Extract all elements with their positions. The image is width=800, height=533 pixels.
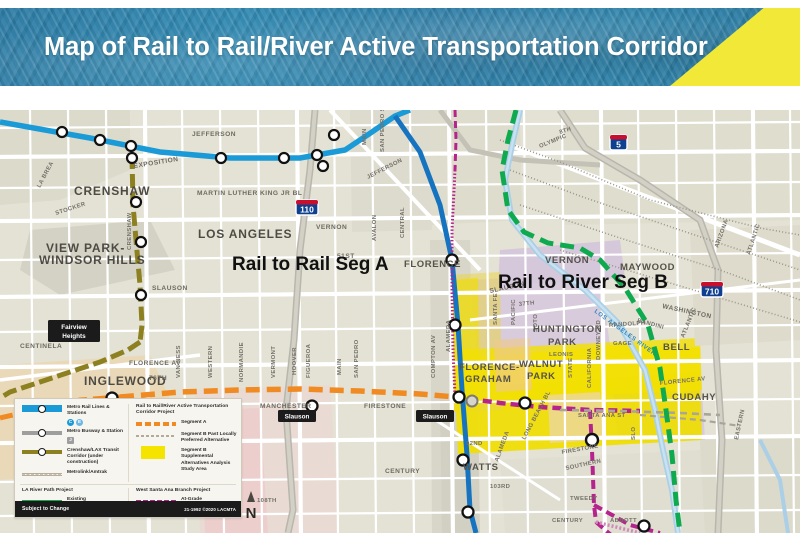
svg-text:AVALON: AVALON [372, 215, 378, 241]
svg-text:5: 5 [616, 140, 621, 150]
legend-left-column: Metro Rail Lines & Stations C E Metro Bu… [15, 404, 128, 482]
legend-row-segment-a: Segment A [136, 419, 237, 428]
svg-text:CUDAHY: CUDAHY [672, 392, 716, 403]
legend-row-busway: Metro Busway & Station J [22, 429, 124, 444]
svg-text:WESTERN: WESTERN [208, 346, 214, 378]
legend-label-busway: Metro Busway & Station [67, 429, 123, 436]
station-label-slauson-west: Slauson [278, 410, 316, 422]
legend-footer-bar: Subject to Change 21-1992 ©2020 LACMTA [15, 501, 242, 517]
svg-text:FIRESTONE: FIRESTONE [364, 403, 406, 410]
copyright-note: 21-1992 ©2020 LACMTA [184, 507, 236, 512]
svg-text:CENTINELA: CENTINELA [20, 343, 62, 350]
svg-text:CENTRAL: CENTRAL [400, 207, 406, 238]
crenshaw-lax-symbol-icon [22, 447, 62, 456]
svg-text:Slauson: Slauson [285, 414, 310, 421]
station-label-slauson-east: Slauson [416, 410, 454, 422]
svg-text:ABBOTT: ABBOTT [610, 518, 637, 524]
svg-text:CRENSHAW: CRENSHAW [127, 212, 133, 250]
metrolink-symbol-icon [22, 470, 62, 479]
svg-text:ALAMEDA: ALAMEDA [446, 319, 452, 352]
legend-label-metrolink: Metrolink/Amtrak [67, 470, 107, 477]
svg-text:HUNTINGTON: HUNTINGTON [533, 324, 602, 335]
svg-text:92ND: 92ND [466, 441, 483, 447]
svg-text:PACIFIC: PACIFIC [511, 299, 517, 325]
svg-text:VERNON: VERNON [316, 224, 347, 231]
svg-text:BELL: BELL [663, 342, 690, 353]
freeway-shield-710: 710 [701, 282, 723, 297]
svg-text:WALNUT: WALNUT [519, 359, 563, 370]
segment-b-map-label: Rail to River Seg B [498, 272, 668, 293]
legend-row-metro-rail: Metro Rail Lines & Stations C E [22, 404, 124, 426]
svg-text:FLORENCE: FLORENCE [404, 259, 461, 270]
metro-line-badges: C E [67, 419, 124, 426]
svg-text:VAN NESS: VAN NESS [176, 345, 182, 378]
svg-text:103RD: 103RD [490, 484, 510, 490]
legend-label-segment-b-study-area: Segment B Supplemental Alternatives Anal… [181, 447, 237, 473]
freeway-shield-5: 5 [610, 135, 627, 150]
segment-b-past-lpa-symbol-icon [136, 431, 176, 440]
svg-text:SAN PEDRO: SAN PEDRO [354, 339, 360, 378]
svg-text:PARK: PARK [527, 371, 556, 382]
screenshot-root: Map of Rail to Rail/River Active Transpo… [0, 0, 800, 533]
line-badge-c: C [67, 419, 74, 426]
svg-text:FLORENCE-: FLORENCE- [459, 362, 520, 373]
svg-text:COMPTON AV: COMPTON AV [431, 335, 437, 378]
svg-text:108TH: 108TH [257, 498, 277, 504]
svg-text:Fairview: Fairview [61, 324, 87, 331]
legend-row-segment-b-study-area: Segment B Supplemental Alternatives Anal… [136, 447, 237, 473]
svg-text:FLORENCE AV: FLORENCE AV [129, 360, 181, 367]
subject-to-change-note: Subject to Change [22, 506, 69, 512]
svg-text:PARK: PARK [548, 337, 577, 348]
page-header-banner: Map of Rail to Rail/River Active Transpo… [0, 8, 800, 86]
svg-text:LEONIS: LEONIS [549, 352, 573, 358]
svg-text:MAIN: MAIN [362, 128, 368, 145]
svg-text:GAGE: GAGE [613, 341, 632, 347]
legend-row-crenshaw-lax: Crenshaw/LAX Transit Corridor (under con… [22, 447, 124, 467]
svg-text:SANTA FE: SANTA FE [493, 293, 499, 325]
svg-text:N: N [246, 505, 257, 522]
freeway-shield-110: 110 [296, 200, 318, 215]
svg-text:GRAHAM: GRAHAM [465, 374, 511, 385]
segment-b-study-area-symbol-icon [136, 447, 176, 456]
svg-text:76TH: 76TH [149, 375, 167, 382]
svg-text:SLO: SLO [631, 427, 637, 440]
legend-row-metrolink: Metrolink/Amtrak [22, 470, 124, 479]
svg-text:VERNON: VERNON [545, 255, 589, 266]
page-title: Map of Rail to Rail/River Active Transpo… [44, 8, 708, 86]
svg-text:710: 710 [705, 287, 719, 297]
svg-text:CALIFORNIA: CALIFORNIA [587, 347, 593, 388]
svg-text:WATTS: WATTS [463, 462, 499, 473]
svg-text:Slauson: Slauson [423, 414, 448, 421]
svg-text:CENTURY: CENTURY [385, 468, 420, 475]
legend-label-segment-b-past-lpa: Segment B Past Locally Preferred Alterna… [181, 431, 237, 444]
legend-label-segment-a: Segment A [181, 419, 206, 426]
svg-text:HOOVER: HOOVER [292, 347, 298, 375]
segment-a-map-label: Rail to Rail Seg A [232, 254, 389, 275]
station-label-fairview-heights: Fairview Heights [48, 320, 100, 342]
svg-text:SLAUSON: SLAUSON [152, 285, 188, 292]
svg-text:DOWNEY RD: DOWNEY RD [596, 320, 602, 360]
svg-text:SANTA ANA ST: SANTA ANA ST [578, 413, 626, 419]
svg-text:NORMANDIE: NORMANDIE [239, 342, 245, 382]
svg-text:MAIN: MAIN [337, 358, 343, 375]
legend-right-column: Rail to Rail/River Active Transportation… [128, 404, 241, 482]
segment-a-symbol-icon [136, 419, 176, 428]
legend-heading-corridor-project: Rail to Rail/River Active Transportation… [136, 404, 237, 417]
svg-text:LOS ANGELES: LOS ANGELES [198, 227, 292, 241]
svg-text:WINDSOR HILLS: WINDSOR HILLS [39, 253, 145, 267]
metro-rail-symbol-icon [22, 404, 62, 413]
svg-text:MANCHESTER: MANCHESTER [260, 403, 312, 410]
svg-text:STATE: STATE [568, 358, 574, 378]
svg-text:TWEEDY: TWEEDY [570, 496, 598, 502]
legend-divider [20, 484, 236, 485]
svg-text:MARTIN LUTHER KING JR BL: MARTIN LUTHER KING JR BL [197, 190, 302, 197]
svg-text:SAN PEDRO ST: SAN PEDRO ST [380, 110, 386, 152]
legend-row-segment-b-past-lpa: Segment B Past Locally Preferred Alterna… [136, 431, 237, 444]
svg-text:VERMONT: VERMONT [271, 346, 277, 378]
legend-label-crenshaw-lax: Crenshaw/LAX Transit Corridor (under con… [67, 447, 124, 467]
line-badge-j: J [67, 437, 74, 444]
svg-text:CRENSHAW: CRENSHAW [74, 184, 150, 198]
map-legend: Metro Rail Lines & Stations C E Metro Bu… [14, 398, 242, 518]
metro-busway-symbol-icon [22, 429, 62, 438]
svg-text:Heights: Heights [62, 333, 86, 340]
svg-text:CENTURY: CENTURY [552, 518, 583, 524]
svg-text:FIGUEROA: FIGUEROA [306, 343, 312, 378]
svg-text:JEFFERSON: JEFFERSON [192, 131, 236, 138]
legend-heading-la-river-path: LA River Path Project [22, 488, 124, 494]
svg-text:SOTO: SOTO [533, 314, 539, 332]
line-badge-e: E [76, 419, 83, 426]
legend-label-metro-rail: Metro Rail Lines & Stations [67, 404, 124, 417]
legend-heading-wsab: West Santa Ana Branch Project [136, 488, 237, 494]
svg-text:110: 110 [300, 205, 314, 215]
